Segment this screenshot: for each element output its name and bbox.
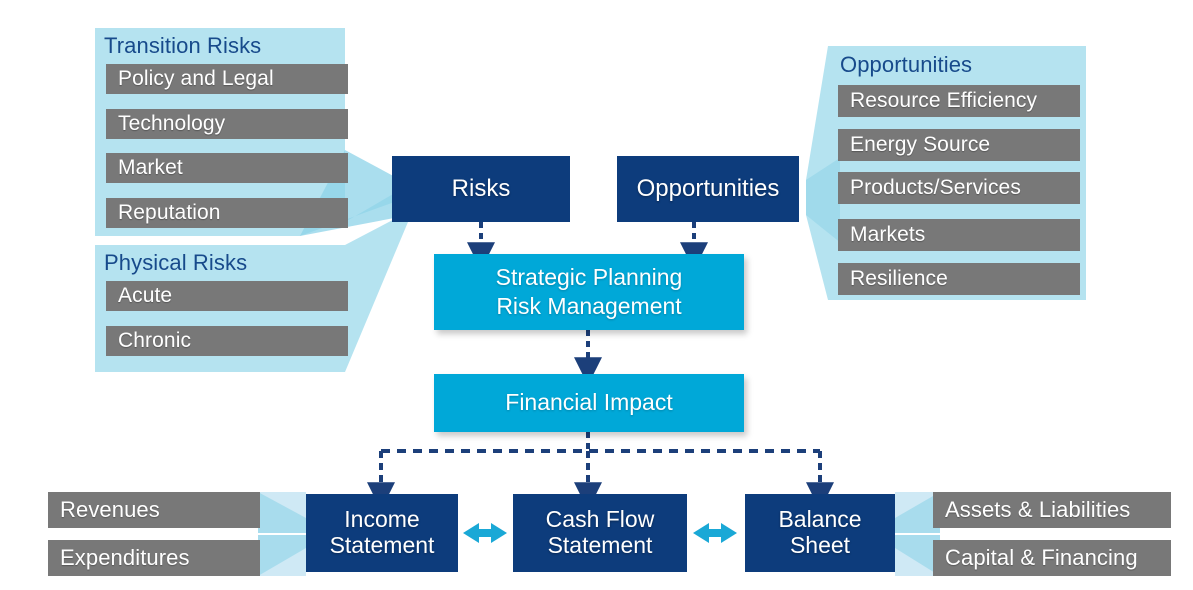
cash-flow-statement-line-2: Statement xyxy=(548,533,653,559)
physical-risks-wedge-taper xyxy=(345,212,408,372)
income-statement-box[interactable]: Income Statement xyxy=(306,494,458,572)
bottom-item-revenues[interactable]: Revenues xyxy=(48,492,260,528)
risk-item-reputation[interactable]: Reputation xyxy=(106,198,348,228)
double-arrow-income-cashflow xyxy=(463,523,507,543)
opportunities-heading: Opportunities xyxy=(840,52,972,78)
opportunity-item-markets[interactable]: Markets xyxy=(838,219,1080,251)
income-statement-line-2: Statement xyxy=(330,533,435,559)
risk-item-market[interactable]: Market xyxy=(106,153,348,183)
bottom-item-assets-and-liabilities[interactable]: Assets & Liabilities xyxy=(933,492,1171,528)
financial-impact-box[interactable]: Financial Impact xyxy=(434,374,744,432)
diagram-canvas: Transition Risks Policy and Legal Techno… xyxy=(0,0,1193,590)
risks-box[interactable]: Risks xyxy=(392,156,570,222)
income-statement-line-1: Income xyxy=(344,507,419,533)
bottom-item-capital-and-financing[interactable]: Capital & Financing xyxy=(933,540,1171,576)
risk-item-technology[interactable]: Technology xyxy=(106,109,348,139)
bottom-item-expenditures[interactable]: Expenditures xyxy=(48,540,260,576)
opportunity-item-energy-source[interactable]: Energy Source xyxy=(838,129,1080,161)
balance-sheet-box[interactable]: Balance Sheet xyxy=(745,494,895,572)
bottom-left-wedge-taper-upper xyxy=(258,492,306,533)
cash-flow-statement-line-1: Cash Flow xyxy=(546,507,655,533)
transition-risks-heading: Transition Risks xyxy=(104,33,261,59)
balance-sheet-line-1: Balance xyxy=(778,507,861,533)
bottom-left-wedge-upper xyxy=(258,492,306,533)
opportunity-item-resource-efficiency[interactable]: Resource Efficiency xyxy=(838,85,1080,117)
opportunity-item-products-services[interactable]: Products/Services xyxy=(838,172,1080,204)
double-arrow-cashflow-balance xyxy=(693,523,737,543)
financial-impact-label: Financial Impact xyxy=(505,388,672,417)
strategic-planning-risk-management-box[interactable]: Strategic Planning Risk Management xyxy=(434,254,744,330)
physical-risks-heading: Physical Risks xyxy=(104,250,247,276)
strategy-line-1: Strategic Planning xyxy=(496,263,683,292)
strategy-line-2: Risk Management xyxy=(496,292,681,321)
risk-item-policy-and-legal[interactable]: Policy and Legal xyxy=(106,64,348,94)
opportunities-box[interactable]: Opportunities xyxy=(617,156,799,222)
bottom-left-wedge-lower xyxy=(258,535,306,576)
risk-item-acute[interactable]: Acute xyxy=(106,281,348,311)
risk-item-chronic[interactable]: Chronic xyxy=(106,326,348,356)
cash-flow-statement-box[interactable]: Cash Flow Statement xyxy=(513,494,687,572)
balance-sheet-line-2: Sheet xyxy=(790,533,850,559)
opportunity-item-resilience[interactable]: Resilience xyxy=(838,263,1080,295)
bottom-left-wedge-taper-lower xyxy=(258,535,306,576)
